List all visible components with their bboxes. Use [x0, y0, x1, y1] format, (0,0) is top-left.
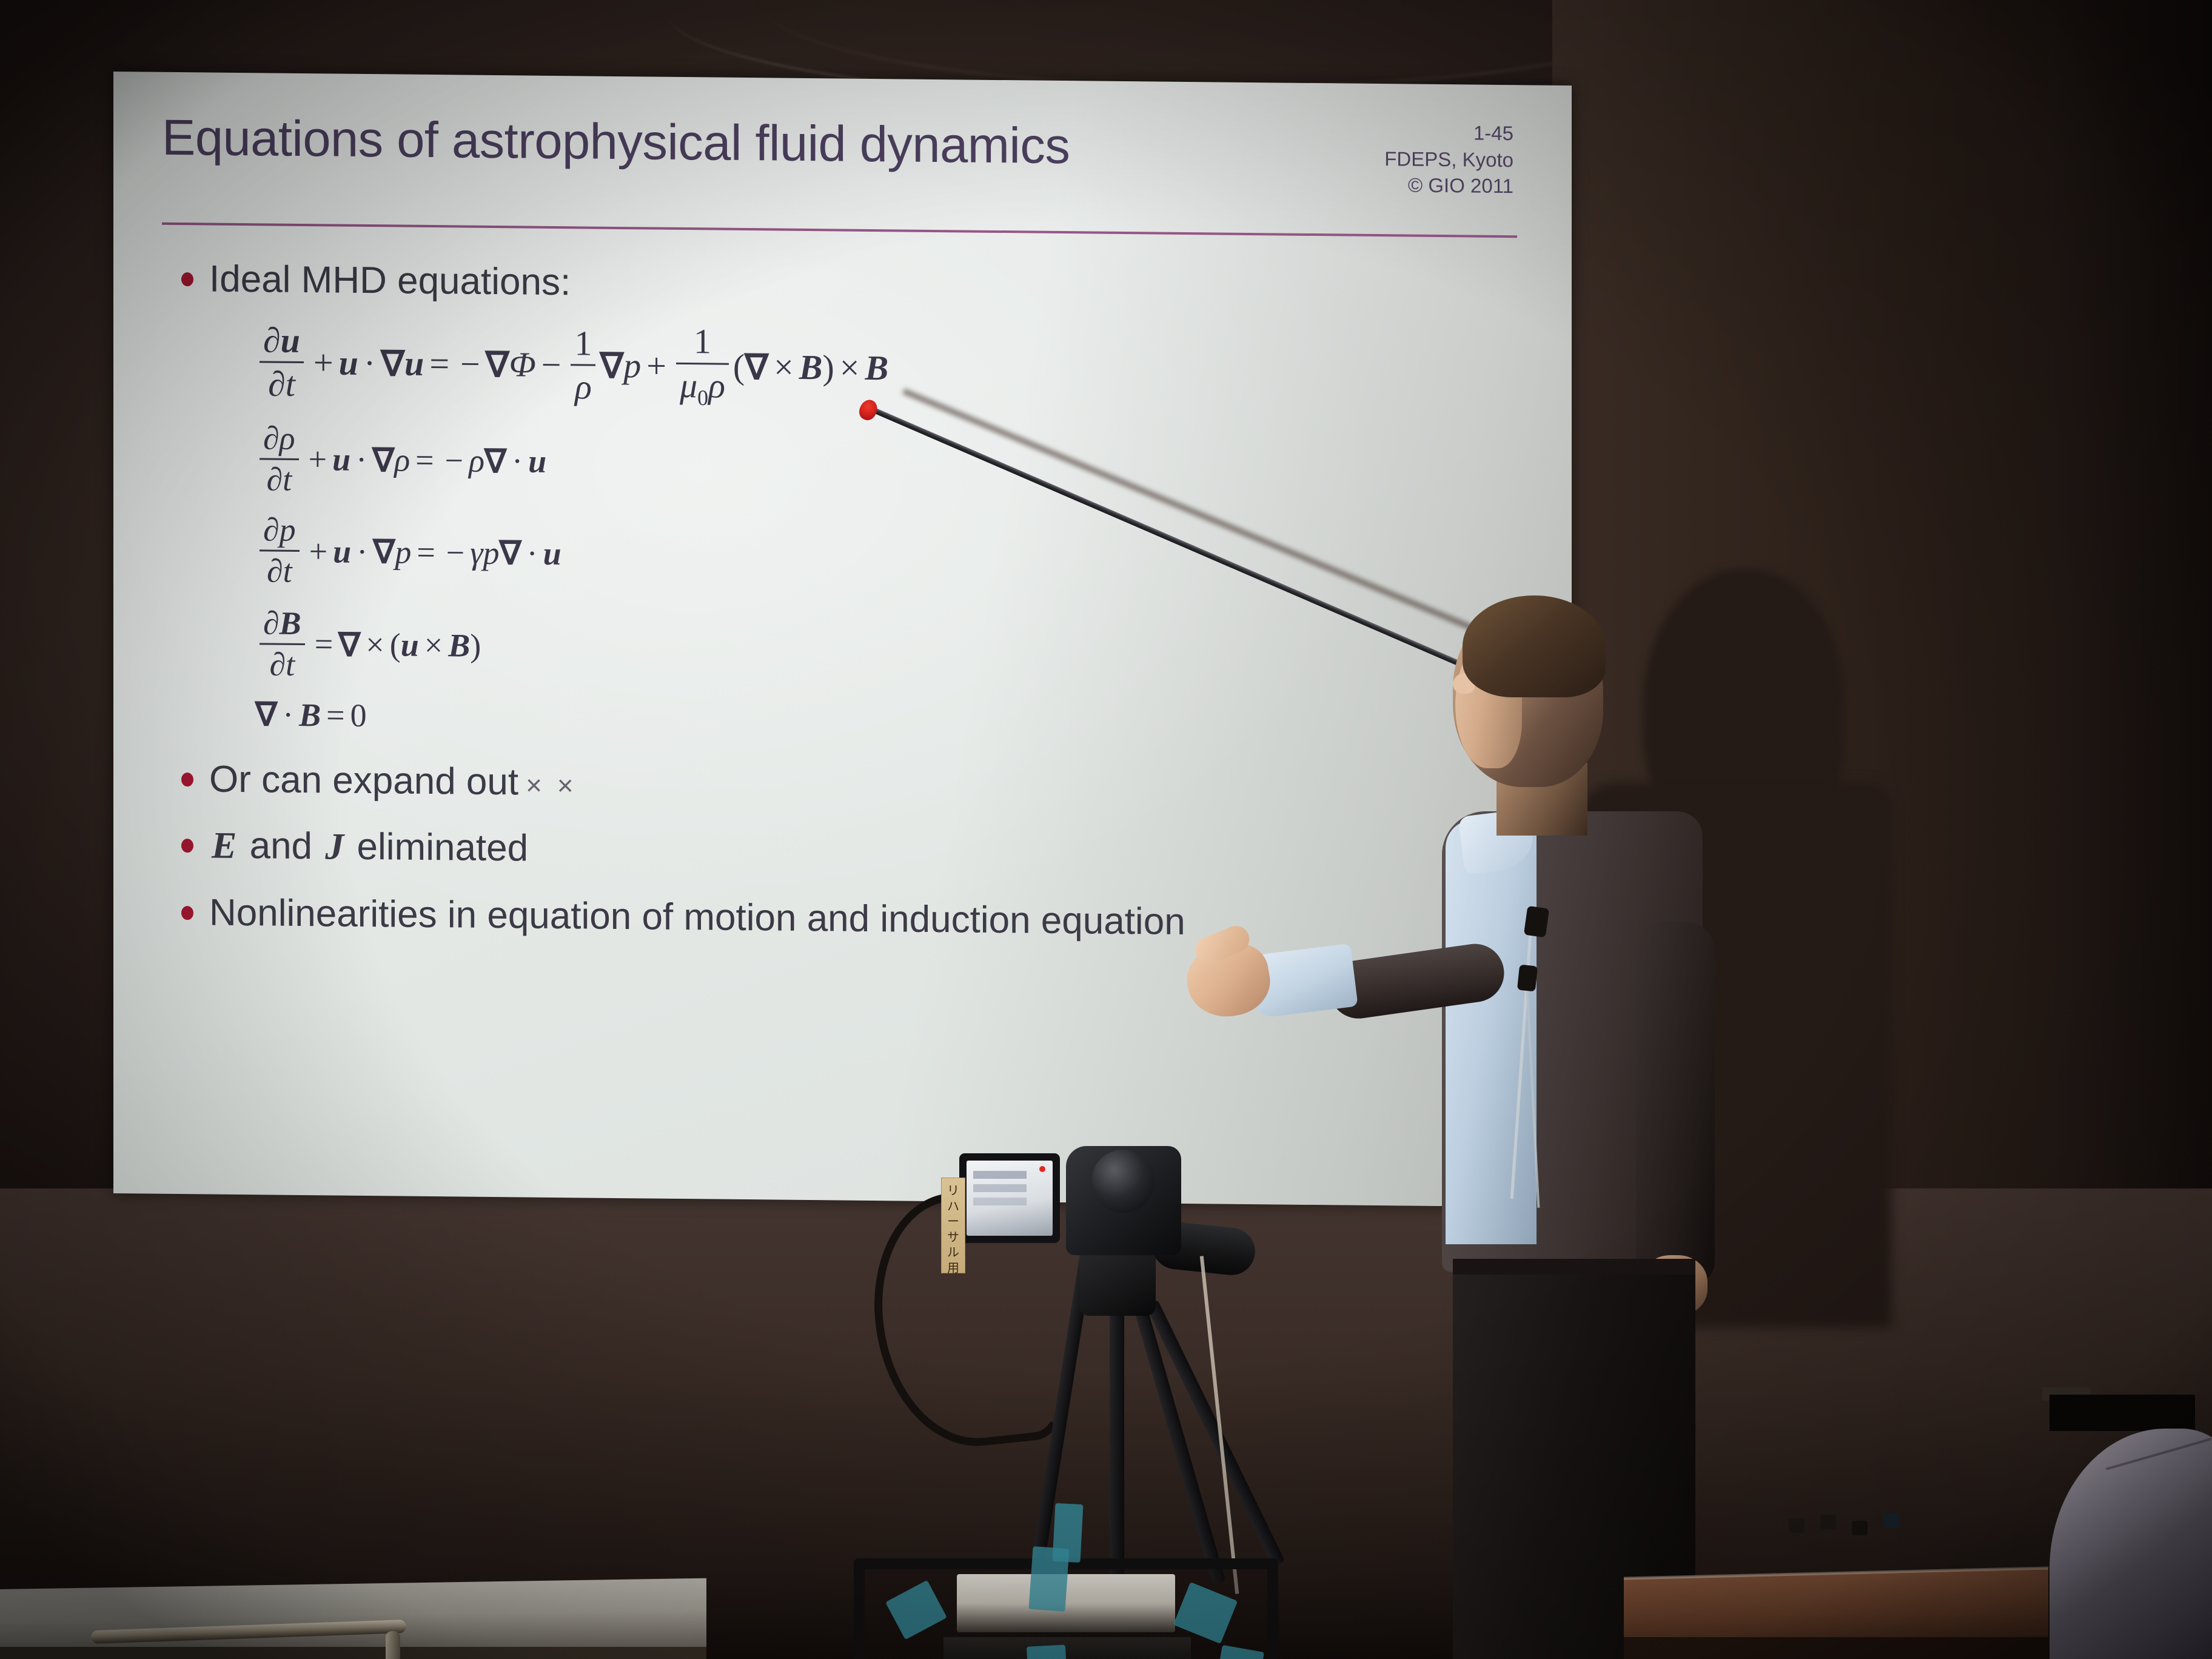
slide-venue: FDEPS, Kyoto [1384, 146, 1513, 173]
bullet-label: Ideal MHD equations: [209, 258, 571, 304]
lcd-preview [967, 1161, 1053, 1236]
background-object [1883, 1513, 1899, 1528]
av-device-mid [943, 1637, 1191, 1659]
background-objects [1789, 1513, 1928, 1538]
slide-title: Equations of astrophysical fluid dynamic… [162, 104, 1529, 177]
pressure-equation: ∂p∂t +u·∇p =−γp∇·u [255, 512, 1529, 601]
bullet-e-and-j: E and J eliminated [181, 825, 1529, 880]
bullet-dot-icon [181, 773, 193, 786]
lapel-microphone-icon [1524, 906, 1549, 938]
bullet-dot-icon [181, 906, 193, 920]
slide-body: Ideal MHD equations: ∂u∂t +u·∇u =−∇Φ − 1… [162, 225, 1529, 947]
bullet-label: Nonlinearities in equation of motion and… [209, 891, 1185, 943]
tripod-leg [1110, 1305, 1124, 1590]
presenter-hair [1463, 595, 1606, 697]
chair-rail [91, 1620, 406, 1644]
math-symbol-J: J [323, 826, 346, 868]
presenter [1395, 582, 1831, 1659]
camera-lens-icon [1091, 1150, 1155, 1213]
camera-lcd-screen [959, 1153, 1060, 1243]
tripod-head [1079, 1248, 1156, 1316]
presenter-right-arm [1636, 922, 1715, 1285]
lecture-room-photo: Equations of astrophysical fluid dynamic… [0, 0, 2212, 1659]
bullet-label: E and J eliminated [209, 825, 528, 870]
divergence-constraint: ∇·B=0 [255, 695, 1529, 745]
bullet-label: Or can expand out× × [209, 759, 577, 804]
induction-equation: ∂B∂t =∇× (u×B) [255, 606, 1529, 694]
bullet-nonlinearities: Nonlinearities in equation of motion and… [181, 891, 1529, 947]
slide-header: Equations of astrophysical fluid dynamic… [162, 104, 1529, 232]
tripod-leg [1145, 1299, 1285, 1567]
slide-meta: 1-45 FDEPS, Kyoto © GIO 2011 [1384, 119, 1513, 199]
wall-fixture [2049, 1395, 2195, 1431]
desk-right-edge [1624, 1637, 2048, 1659]
continuity-equation: ∂ρ∂t +u·∇ρ =−ρ∇·u [255, 421, 1529, 509]
bullet-dot-icon [181, 272, 193, 286]
slide-page-number: 1-45 [1384, 119, 1513, 147]
paper-tag-text: リハーサル用 [942, 1178, 965, 1276]
chair-back [91, 1620, 431, 1659]
momentum-equation: ∂u∂t +u·∇u =−∇Φ − 1ρ ∇p + 1μ0ρ (∇×B) ×B [255, 319, 1529, 417]
lapel-microphone-secondary-icon [1517, 965, 1538, 992]
equation-group: ∂u∂t +u·∇u =−∇Φ − 1ρ ∇p + 1μ0ρ (∇×B) ×B … [181, 300, 1529, 746]
presenter-belt [1453, 1259, 1695, 1275]
paper-tag: リハーサル用 [941, 1178, 965, 1273]
slide-copyright: © GIO 2011 [1384, 172, 1513, 199]
projected-slide: Equations of astrophysical fluid dynamic… [113, 72, 1572, 1207]
bullet-dot-icon [181, 839, 193, 853]
gaffer-tape [1027, 1644, 1069, 1659]
chair-post [386, 1631, 400, 1659]
gaffer-tape [1028, 1546, 1069, 1612]
background-object [1820, 1515, 1836, 1529]
background-object [1852, 1521, 1868, 1535]
math-symbol-E: E [209, 825, 239, 866]
record-indicator-icon [1039, 1166, 1045, 1172]
bullet-expand-out: Or can expand out× × [181, 758, 1529, 813]
camera-rig: リハーサル用 [849, 1140, 1407, 1659]
cross-product-marks: × × [518, 769, 577, 801]
background-object [1789, 1518, 1805, 1533]
